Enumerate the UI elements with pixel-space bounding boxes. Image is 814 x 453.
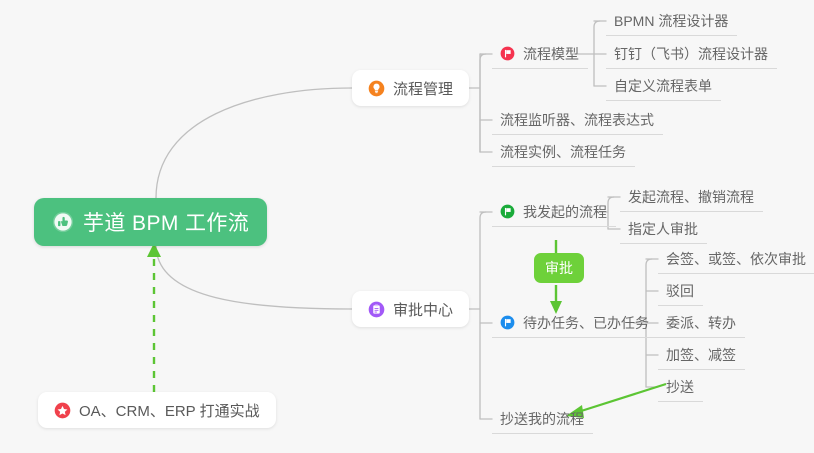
- node-reject-label: 驳回: [666, 281, 694, 301]
- node-process-listener-expression-label: 流程监听器、流程表达式: [500, 110, 654, 130]
- edge-pm-spine-round: [480, 54, 486, 152]
- flag-icon: [500, 315, 515, 330]
- edge-root-to-process-management: [156, 88, 352, 198]
- branch-process-management-label: 流程管理: [393, 78, 453, 99]
- node-cc-to-me-process-label: 抄送我的流程: [500, 409, 584, 429]
- node-todo-done-tasks[interactable]: 待办任务、已办任务: [492, 308, 658, 338]
- flag-icon: [500, 204, 515, 219]
- tag-approval-label: 审批: [545, 258, 573, 278]
- node-process-instance-task[interactable]: 流程实例、流程任务: [492, 137, 635, 167]
- node-cc-to-me-process[interactable]: 抄送我的流程: [492, 404, 593, 434]
- branch-approval-center-label: 审批中心: [393, 299, 453, 320]
- node-reject[interactable]: 驳回: [658, 276, 703, 306]
- node-countersign-orsign-sequential-label: 会签、或签、依次审批: [666, 249, 806, 269]
- node-custom-process-form[interactable]: 自定义流程表单: [606, 71, 721, 101]
- node-cc-label: 抄送: [666, 377, 694, 397]
- edge-root-to-approval-center: [156, 245, 352, 309]
- node-my-initiated-process[interactable]: 我发起的流程: [492, 197, 616, 227]
- node-todo-done-tasks-label: 待办任务、已办任务: [523, 313, 649, 333]
- node-custom-process-form-label: 自定义流程表单: [614, 76, 712, 96]
- node-countersign-orsign-sequential[interactable]: 会签、或签、依次审批: [658, 244, 814, 274]
- node-bpmn-designer[interactable]: BPMN 流程设计器: [606, 6, 737, 36]
- node-add-remove-sign[interactable]: 加签、减签: [658, 340, 745, 370]
- star-icon: [54, 402, 71, 419]
- node-process-instance-task-label: 流程实例、流程任务: [500, 142, 626, 162]
- edge-ac-spine: [480, 212, 486, 419]
- lightbulb-icon: [368, 80, 385, 97]
- root-node[interactable]: 芋道 BPM 工作流: [34, 198, 267, 246]
- footnote-card-label: OA、CRM、ERP 打通实战: [79, 400, 260, 421]
- thumbs-up-icon: [52, 211, 74, 233]
- mindmap-canvas: 芋道 BPM 工作流 流程管理 流程模型 BPMN 流程设计器 钉钉（飞书: [0, 0, 814, 453]
- clipboard-icon: [368, 301, 385, 318]
- edge-model-spine: [594, 21, 600, 86]
- node-dingtalk-feishu-designer-label: 钉钉（飞书）流程设计器: [614, 44, 768, 64]
- node-process-listener-expression[interactable]: 流程监听器、流程表达式: [492, 105, 663, 135]
- branch-process-management[interactable]: 流程管理: [352, 70, 469, 106]
- edge-pm-spine: [480, 54, 481, 152]
- node-delegate-transfer-label: 委派、转办: [666, 313, 736, 333]
- footnote-card[interactable]: OA、CRM、ERP 打通实战: [38, 392, 276, 428]
- node-start-cancel-process[interactable]: 发起流程、撤销流程: [620, 182, 763, 212]
- node-assignee-approval[interactable]: 指定人审批: [620, 214, 707, 244]
- node-my-initiated-process-label: 我发起的流程: [523, 202, 607, 222]
- node-add-remove-sign-label: 加签、减签: [666, 345, 736, 365]
- node-dingtalk-feishu-designer[interactable]: 钉钉（飞书）流程设计器: [606, 39, 777, 69]
- node-process-model-label: 流程模型: [523, 44, 579, 64]
- branch-approval-center[interactable]: 审批中心: [352, 291, 469, 327]
- node-delegate-transfer[interactable]: 委派、转办: [658, 308, 745, 338]
- node-cc[interactable]: 抄送: [658, 372, 703, 402]
- node-process-model[interactable]: 流程模型: [492, 39, 588, 69]
- node-assignee-approval-label: 指定人审批: [628, 219, 698, 239]
- tag-approval[interactable]: 审批: [534, 253, 584, 283]
- flag-icon: [500, 46, 515, 61]
- root-node-label: 芋道 BPM 工作流: [83, 207, 249, 237]
- node-bpmn-designer-label: BPMN 流程设计器: [614, 11, 728, 31]
- node-start-cancel-process-label: 发起流程、撤销流程: [628, 187, 754, 207]
